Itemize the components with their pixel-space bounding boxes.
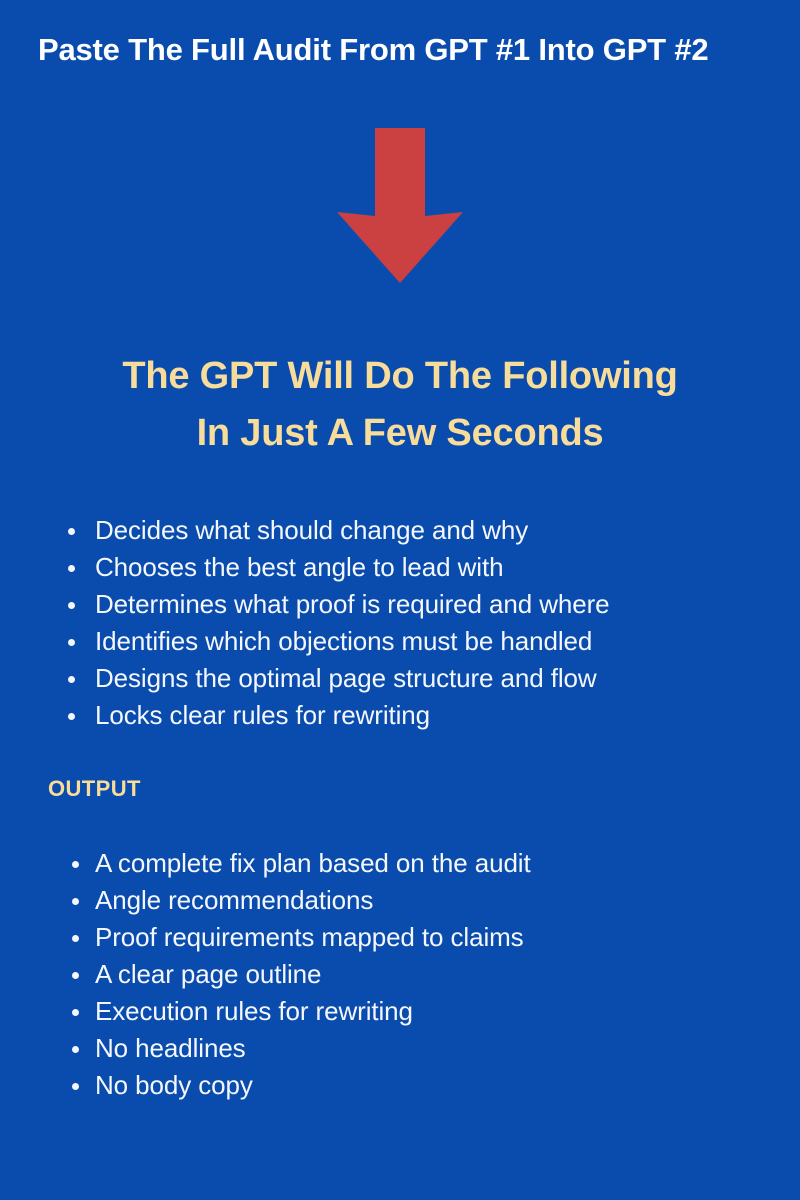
list-item: A complete fix plan based on the audit [0, 845, 800, 882]
list-item-label: Designs the optimal page structure and f… [0, 660, 800, 697]
list-item: A clear page outline [0, 956, 800, 993]
list-item: Execution rules for rewriting [0, 993, 800, 1030]
list-item-label: Angle recommendations [0, 882, 800, 919]
headline: The GPT Will Do The Following In Just A … [40, 348, 760, 462]
down-arrow-icon [332, 128, 468, 288]
bullet-icon [68, 676, 75, 683]
bullet-icon [72, 898, 79, 905]
list-item-label: Locks clear rules for rewriting [0, 697, 800, 734]
actions-list: Decides what should change and why Choos… [0, 512, 800, 734]
headline-line-2: In Just A Few Seconds [40, 405, 760, 462]
bullet-icon [72, 972, 79, 979]
list-item-label: A complete fix plan based on the audit [0, 845, 800, 882]
list-item-label: Proof requirements mapped to claims [0, 919, 800, 956]
list-item: Angle recommendations [0, 882, 800, 919]
poster-slide: Paste The Full Audit From GPT #1 Into GP… [0, 0, 800, 1200]
output-list: A complete fix plan based on the audit A… [0, 845, 800, 1104]
output-section-label: OUTPUT [48, 775, 141, 803]
list-item: Chooses the best angle to lead with [0, 549, 800, 586]
bullet-icon [68, 713, 75, 720]
page-title: Paste The Full Audit From GPT #1 Into GP… [38, 30, 762, 70]
bullet-icon [72, 935, 79, 942]
list-item: Locks clear rules for rewriting [0, 697, 800, 734]
list-item: Proof requirements mapped to claims [0, 919, 800, 956]
list-item-label: A clear page outline [0, 956, 800, 993]
bullet-icon [72, 1046, 79, 1053]
bullet-icon [68, 639, 75, 646]
bullet-icon [68, 565, 75, 572]
list-item: No headlines [0, 1030, 800, 1067]
list-item-label: Execution rules for rewriting [0, 993, 800, 1030]
bullet-icon [72, 1083, 79, 1090]
headline-line-1: The GPT Will Do The Following [40, 348, 760, 405]
list-item-label: Decides what should change and why [0, 512, 800, 549]
list-item-label: Identifies which objections must be hand… [0, 623, 800, 660]
list-item: Decides what should change and why [0, 512, 800, 549]
list-item-label: Chooses the best angle to lead with [0, 549, 800, 586]
list-item-label: No headlines [0, 1030, 800, 1067]
list-item-label: No body copy [0, 1067, 800, 1104]
bullet-icon [72, 861, 79, 868]
list-item: Determines what proof is required and wh… [0, 586, 800, 623]
list-item: Identifies which objections must be hand… [0, 623, 800, 660]
list-item: No body copy [0, 1067, 800, 1104]
bullet-icon [68, 528, 75, 535]
bullet-icon [72, 1009, 79, 1016]
bullet-icon [68, 602, 75, 609]
list-item: Designs the optimal page structure and f… [0, 660, 800, 697]
list-item-label: Determines what proof is required and wh… [0, 586, 800, 623]
